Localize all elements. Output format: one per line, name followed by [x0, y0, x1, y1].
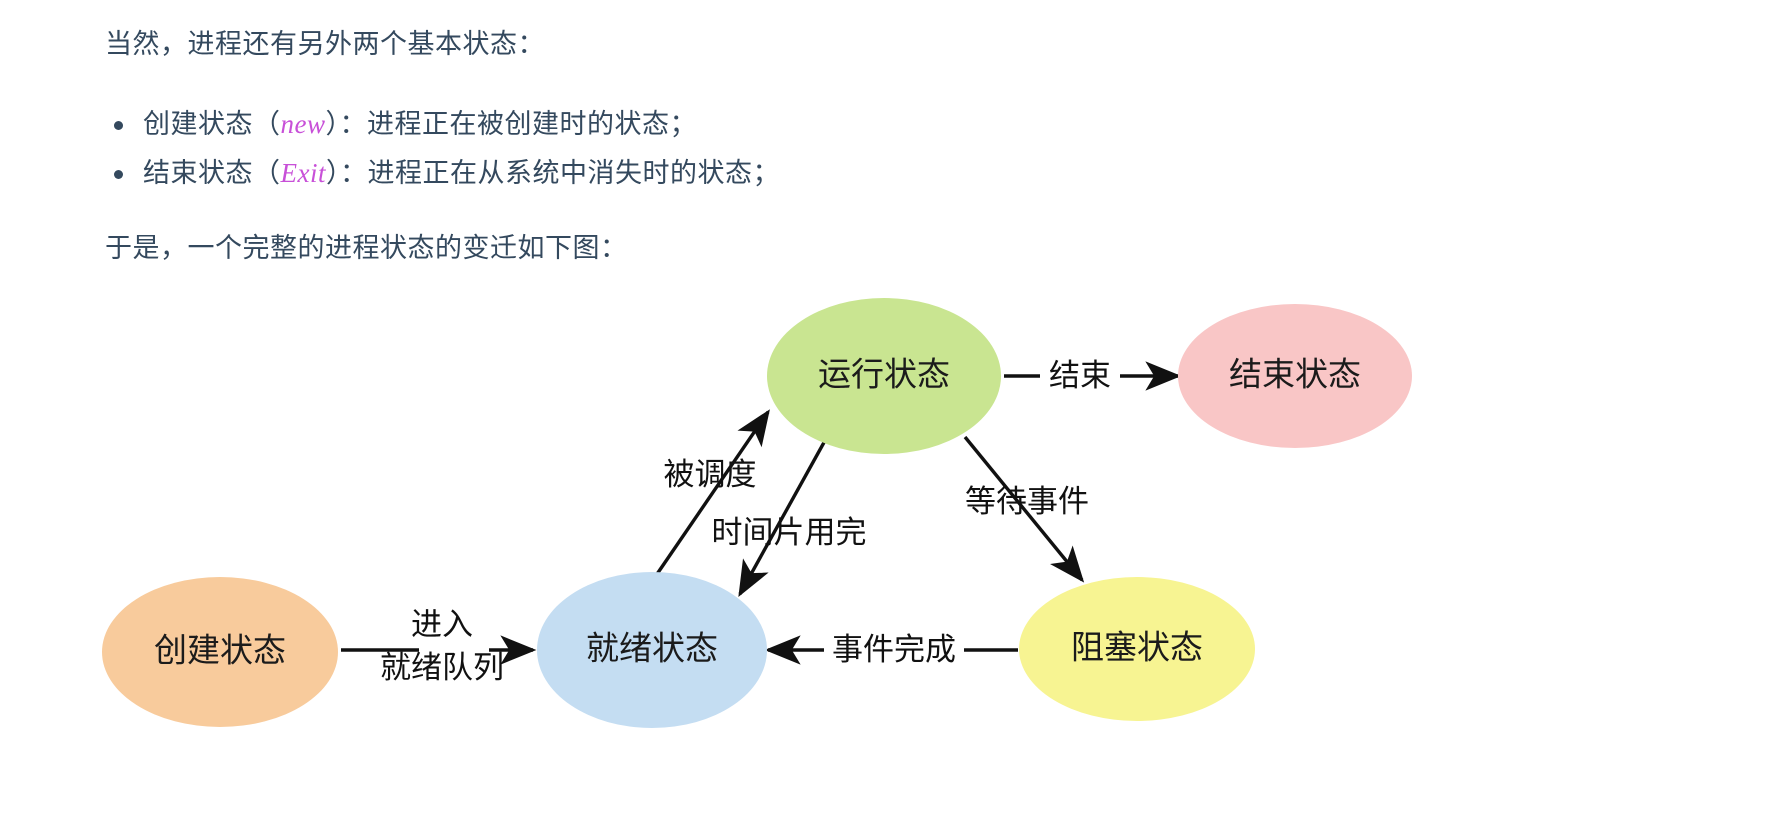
bullet-prefix-text: 结束状态（: [143, 158, 281, 188]
process-state-diagram: 进入 就绪队列 被调度 时间片用完 等待事件 结束: [0, 272, 1771, 817]
edge-label-running-to-exit: 结束: [1049, 358, 1111, 393]
node-running-label: 运行状态: [818, 356, 950, 393]
bullet-suffix-text: ）：进程正在被创建时的状态；: [326, 109, 698, 139]
edge-ready-to-running: 被调度: [655, 412, 768, 577]
edge-new-to-ready: 进入 就绪队列: [341, 607, 533, 685]
edge-label-running-to-blocked: 等待事件: [965, 484, 1089, 519]
node-blocked-state[interactable]: 阻塞状态: [1019, 577, 1255, 721]
lead-paragraph: 于是，一个完整的进程状态的变迁如下图：: [105, 228, 628, 270]
edge-label-new-to-ready-line2: 就绪队列: [380, 650, 504, 685]
bullet-code-new: new: [281, 109, 326, 139]
edge-running-to-blocked: 等待事件: [965, 437, 1089, 580]
node-running-state[interactable]: 运行状态: [767, 298, 1001, 454]
node-new-state[interactable]: 创建状态: [102, 577, 338, 727]
edge-running-to-exit: 结束: [1004, 358, 1178, 393]
list-item: 结束状态（Exit）：进程正在从系统中消失时的状态；: [105, 149, 780, 198]
node-new-label: 创建状态: [154, 632, 286, 669]
edge-blocked-to-ready: 事件完成: [768, 632, 1018, 667]
bullet-prefix-text: 创建状态（: [143, 109, 281, 139]
edge-label-new-to-ready-line1: 进入: [411, 607, 473, 642]
node-ready-label: 就绪状态: [586, 630, 718, 667]
edge-label-running-to-ready: 时间片用完: [712, 515, 867, 550]
intro-paragraph: 当然，进程还有另外两个基本状态：: [105, 24, 545, 66]
node-exit-state[interactable]: 结束状态: [1178, 304, 1412, 448]
state-bullet-list: 创建状态（new）：进程正在被创建时的状态； 结束状态（Exit）：进程正在从系…: [105, 100, 780, 198]
bullet-code-exit: Exit: [281, 158, 326, 188]
node-ready-state[interactable]: 就绪状态: [537, 572, 767, 728]
node-blocked-label: 阻塞状态: [1071, 629, 1203, 666]
edge-label-blocked-to-ready: 事件完成: [832, 632, 956, 667]
edge-label-ready-to-running: 被调度: [664, 457, 757, 492]
bullet-suffix-text: ）：进程正在从系统中消失时的状态；: [326, 158, 780, 188]
node-exit-label: 结束状态: [1229, 356, 1361, 393]
list-item: 创建状态（new）：进程正在被创建时的状态；: [105, 100, 780, 149]
